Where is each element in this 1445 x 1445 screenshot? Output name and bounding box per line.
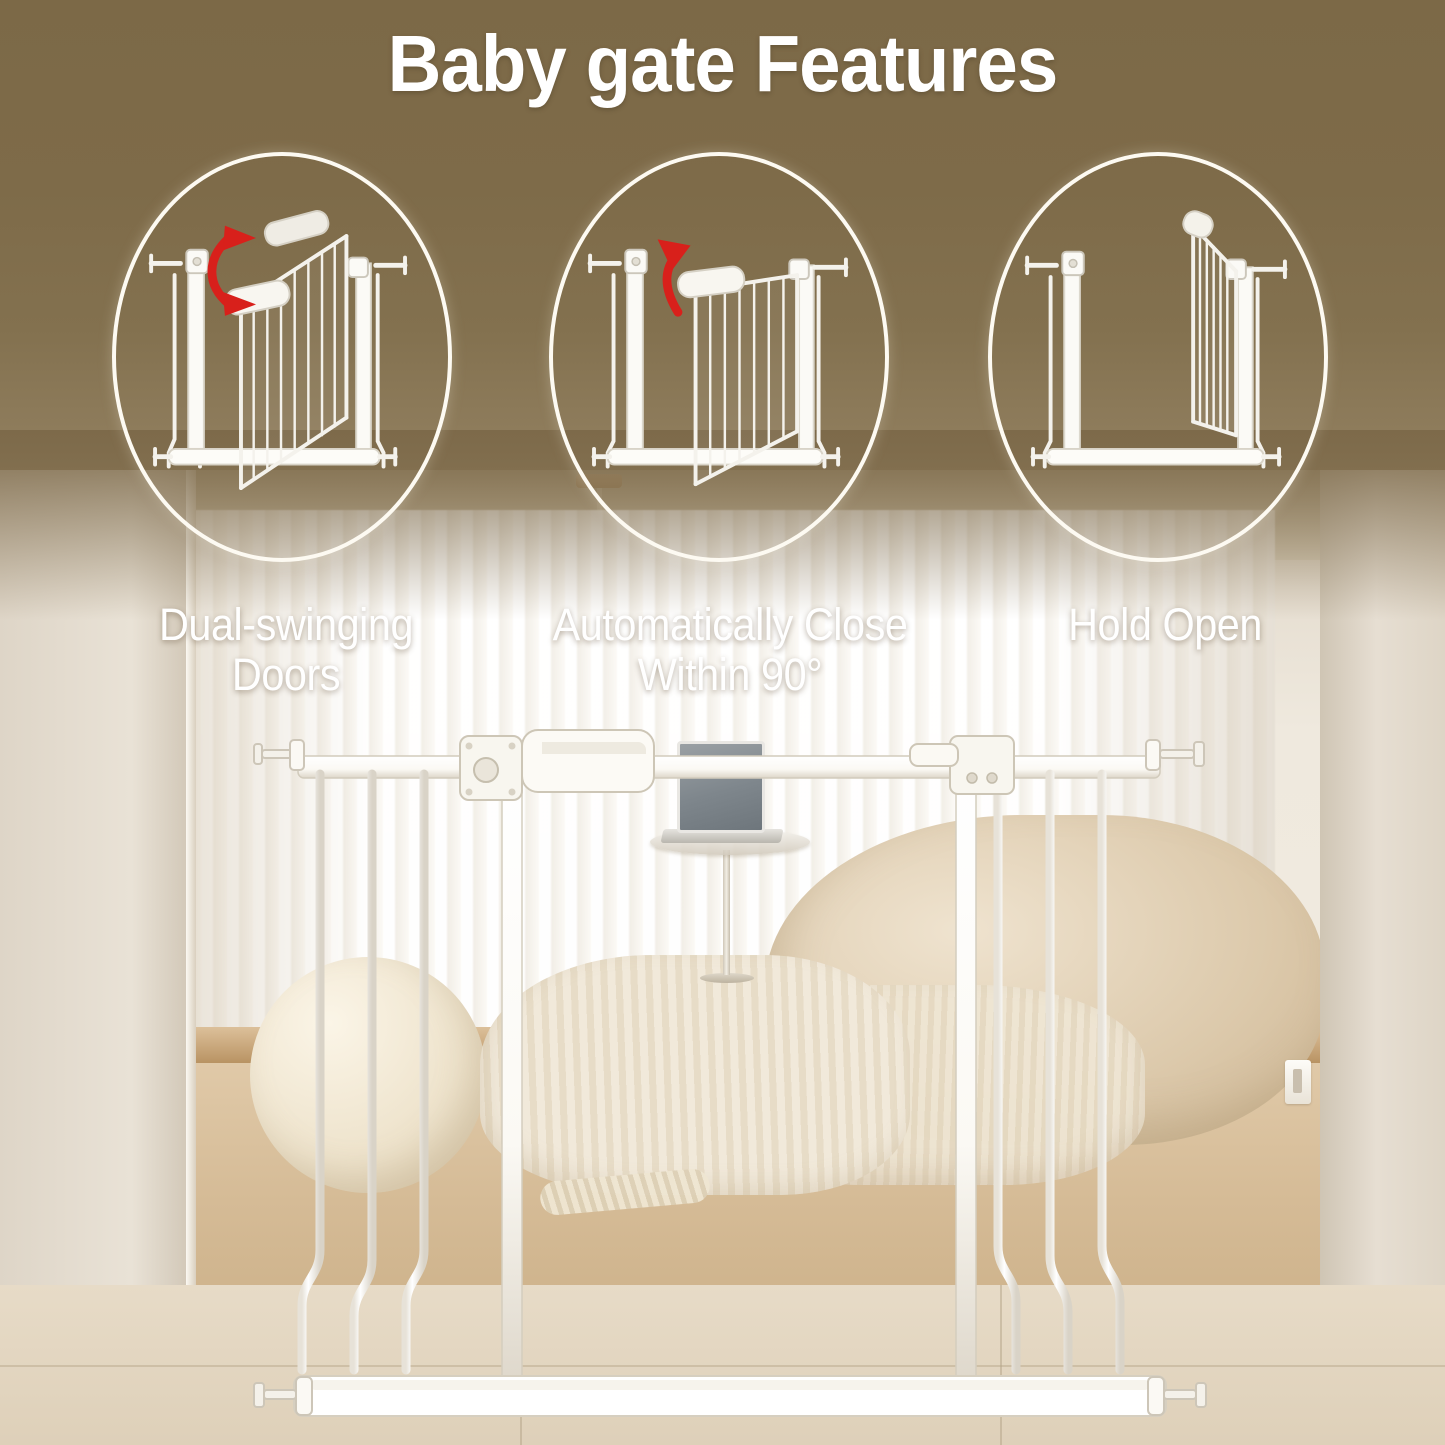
feature-captions: Dual-swinging Doors Automatically Close … [0, 600, 1445, 710]
gate-illustration-dual-swinging [116, 156, 448, 556]
gate-bars-right [998, 774, 1120, 1370]
infographic-canvas: Baby gate Features [0, 0, 1445, 1445]
caption-dual-swinging-doors: Dual-swinging Doors [102, 600, 470, 701]
baby-gate-product [250, 730, 1210, 1430]
page-title: Baby gate Features [51, 18, 1395, 110]
feature-circle-hold-open [988, 152, 1328, 562]
pressure-mount-screw [254, 1377, 312, 1415]
caption-hold-open: Hold Open [1013, 600, 1317, 650]
double-headed-curved-arrow-icon [212, 226, 255, 315]
feature-circles [0, 152, 1445, 572]
pressure-mount-screw [1146, 740, 1204, 770]
pressure-mount-screw [1148, 1377, 1206, 1415]
gate-bars-door [528, 786, 944, 1390]
latch-handle [460, 730, 654, 800]
feature-circle-dual-swinging-doors [112, 152, 452, 562]
wall-outlet [1285, 1060, 1311, 1104]
gate-illustration-hold-open [992, 156, 1324, 556]
gate-bars-left [302, 774, 476, 1390]
gate-illustration-auto-close [553, 156, 885, 556]
caption-automatically-close: Automatically Close Within 90° [491, 600, 969, 701]
pressure-mount-screw [254, 740, 304, 770]
hinge-bracket [910, 736, 1014, 794]
latch-handle-icon [1180, 208, 1216, 241]
bottom-rail [294, 1376, 1166, 1416]
feature-circle-automatically-close [549, 152, 889, 562]
